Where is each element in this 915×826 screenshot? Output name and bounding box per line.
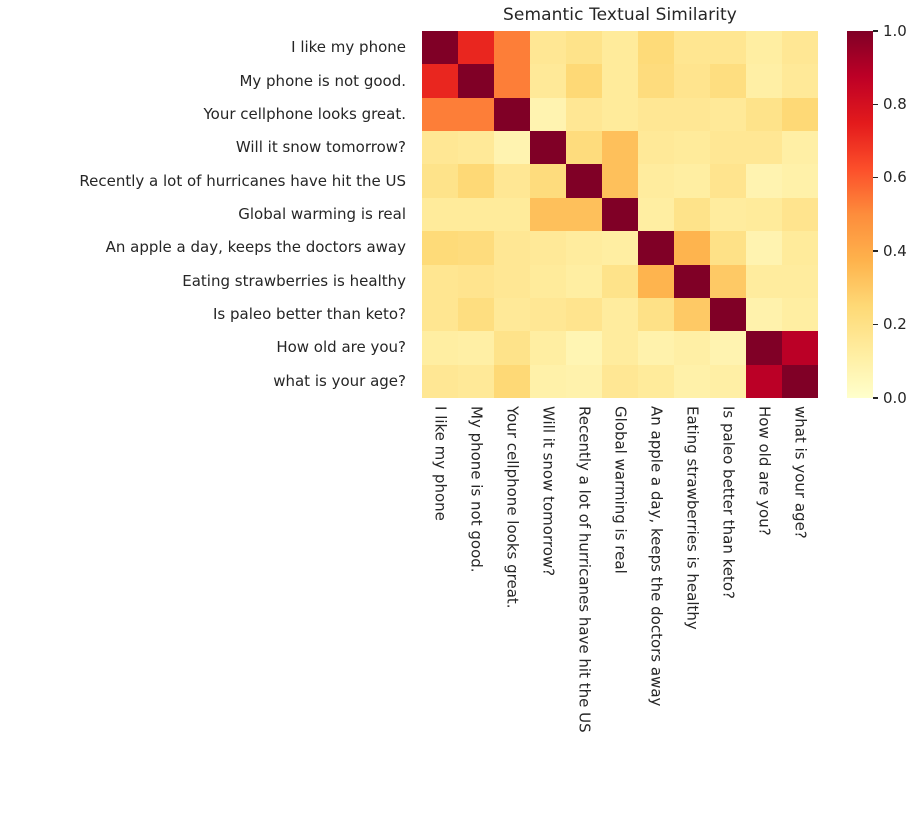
colorbar: 0.00.20.40.60.81.0 <box>847 31 873 398</box>
heatmap-cell <box>782 265 818 298</box>
heatmap-cell <box>746 164 782 197</box>
colorbar-tick: 0.8 <box>873 97 907 111</box>
heatmap-cell <box>782 231 818 264</box>
heatmap-cell <box>638 231 674 264</box>
heatmap-cell <box>746 365 782 398</box>
heatmap-cell <box>674 365 710 398</box>
colorbar-tick: 0.2 <box>873 318 907 332</box>
heatmap-cell <box>494 265 530 298</box>
heatmap-cell <box>602 298 638 331</box>
heatmap-cell <box>782 98 818 131</box>
colorbar-tick: 0.6 <box>873 171 907 185</box>
heatmap-cell <box>566 365 602 398</box>
heatmap-cell <box>782 31 818 64</box>
heatmap-cell <box>782 298 818 331</box>
heatmap-cell <box>494 31 530 64</box>
heatmap-cell <box>782 198 818 231</box>
heatmap-cell <box>422 365 458 398</box>
heatmap-cell <box>710 365 746 398</box>
heatmap-cell <box>422 131 458 164</box>
heatmap-cell <box>530 198 566 231</box>
x-axis-tick-label: Is paleo better than keto? <box>710 398 746 558</box>
heatmap-cell <box>566 31 602 64</box>
heatmap-cell <box>458 265 494 298</box>
heatmap-cell <box>638 164 674 197</box>
heatmap-cell <box>530 298 566 331</box>
y-axis-tick-label: How old are you? <box>0 331 414 364</box>
heatmap-cell <box>746 131 782 164</box>
heatmap-cell <box>782 131 818 164</box>
colorbar-tick: 0.0 <box>873 391 907 405</box>
heatmap-cell <box>530 265 566 298</box>
heatmap-cell <box>782 164 818 197</box>
heatmap-cell <box>530 64 566 97</box>
heatmap-cell <box>494 298 530 331</box>
heatmap-cell <box>710 298 746 331</box>
y-axis-tick-label: Recently a lot of hurricanes have hit th… <box>0 164 414 197</box>
heatmap-cell <box>566 164 602 197</box>
heatmap-cell <box>782 331 818 364</box>
heatmap-cell <box>458 365 494 398</box>
heatmap-cell <box>494 131 530 164</box>
tick-mark-icon <box>873 30 878 31</box>
heatmap-cell <box>710 231 746 264</box>
heatmap-cell <box>746 64 782 97</box>
heatmap-cell <box>458 64 494 97</box>
colorbar-tick-label: 0.4 <box>883 244 907 259</box>
heatmap-cell <box>746 31 782 64</box>
heatmap-cell <box>746 298 782 331</box>
colorbar-tick-label: 0.2 <box>883 317 907 332</box>
heatmap-figure: Semantic Textual Similarity I like my ph… <box>0 0 915 826</box>
tick-mark-icon <box>873 250 878 251</box>
heatmap-cell <box>494 331 530 364</box>
y-axis-tick-label: Eating strawberries is healthy <box>0 265 414 298</box>
heatmap-cell <box>710 198 746 231</box>
x-axis-tick-label: Will it snow tomorrow? <box>530 398 566 558</box>
heatmap-cell <box>530 31 566 64</box>
heatmap-cell <box>458 198 494 231</box>
x-axis-tick-label: Eating strawberries is healthy <box>674 398 710 558</box>
heatmap-cell <box>458 298 494 331</box>
heatmap-cell <box>422 331 458 364</box>
heatmap-cell <box>422 265 458 298</box>
heatmap-cell <box>674 64 710 97</box>
heatmap-cell <box>566 98 602 131</box>
y-axis-tick-label: My phone is not good. <box>0 64 414 97</box>
y-axis-tick-label: An apple a day, keeps the doctors away <box>0 231 414 264</box>
x-axis-tick-label: Global warming is real <box>602 398 638 558</box>
colorbar-gradient <box>847 31 873 398</box>
heatmap-grid <box>422 31 818 398</box>
y-axis-tick-label: Will it snow tomorrow? <box>0 131 414 164</box>
heatmap-cell <box>494 64 530 97</box>
heatmap-cell <box>746 231 782 264</box>
colorbar-tick-label: 0.6 <box>883 170 907 185</box>
heatmap-cell <box>674 198 710 231</box>
heatmap-cell <box>602 64 638 97</box>
tick-mark-icon <box>873 177 878 178</box>
heatmap-cell <box>638 131 674 164</box>
colorbar-tick: 1.0 <box>873 24 907 38</box>
heatmap-cell <box>638 31 674 64</box>
heatmap-cell <box>422 31 458 64</box>
heatmap-cell <box>422 64 458 97</box>
heatmap-cell <box>602 98 638 131</box>
heatmap-cell <box>602 131 638 164</box>
heatmap-cell <box>422 231 458 264</box>
heatmap-cell <box>566 298 602 331</box>
heatmap-cell <box>530 231 566 264</box>
heatmap-cell <box>530 164 566 197</box>
heatmap-cell <box>422 164 458 197</box>
x-axis-tick-label: How old are you? <box>746 398 782 558</box>
heatmap-cell <box>638 198 674 231</box>
colorbar-tick: 0.4 <box>873 244 907 258</box>
y-axis-tick-label: I like my phone <box>0 31 414 64</box>
heatmap-cell <box>782 64 818 97</box>
colorbar-tick-label: 0.0 <box>883 391 907 406</box>
x-axis-tick-label: My phone is not good. <box>458 398 494 558</box>
heatmap-cell <box>566 265 602 298</box>
heatmap-cell <box>674 265 710 298</box>
x-axis-tick-label: Recently a lot of hurricanes have hit th… <box>566 398 602 558</box>
heatmap-cell <box>458 231 494 264</box>
heatmap-cell <box>494 365 530 398</box>
heatmap-cell <box>422 98 458 131</box>
heatmap-cell <box>746 331 782 364</box>
heatmap-cell <box>566 64 602 97</box>
heatmap-cell <box>638 265 674 298</box>
heatmap-cell <box>494 98 530 131</box>
heatmap-cell <box>674 298 710 331</box>
heatmap-cell <box>530 131 566 164</box>
heatmap-cell <box>602 265 638 298</box>
heatmap-cell <box>494 198 530 231</box>
heatmap-cell <box>602 365 638 398</box>
heatmap-cell <box>638 98 674 131</box>
colorbar-tick-label: 1.0 <box>883 24 907 39</box>
tick-mark-icon <box>873 397 878 398</box>
heatmap-cell <box>674 98 710 131</box>
y-axis-tick-labels: I like my phoneMy phone is not good.Your… <box>0 31 414 398</box>
heatmap-cell <box>638 365 674 398</box>
heatmap-cell <box>602 198 638 231</box>
x-axis-tick-label: An apple a day, keeps the doctors away <box>638 398 674 558</box>
heatmap-cell <box>602 231 638 264</box>
heatmap-cell <box>638 64 674 97</box>
heatmap-cell <box>530 365 566 398</box>
heatmap-cell <box>602 31 638 64</box>
heatmap-cell <box>602 331 638 364</box>
y-axis-tick-label: Global warming is real <box>0 198 414 231</box>
heatmap-cell <box>710 331 746 364</box>
tick-mark-icon <box>873 324 878 325</box>
heatmap-cell <box>710 31 746 64</box>
heatmap-cell <box>602 164 638 197</box>
heatmap-cell <box>746 98 782 131</box>
chart-title: Semantic Textual Similarity <box>422 5 818 25</box>
heatmap-cell <box>566 331 602 364</box>
heatmap-cell <box>710 164 746 197</box>
heatmap-cell <box>710 265 746 298</box>
heatmap-cell <box>458 131 494 164</box>
heatmap-cell <box>710 131 746 164</box>
heatmap-cell <box>494 164 530 197</box>
heatmap-cell <box>566 131 602 164</box>
heatmap-cell <box>530 331 566 364</box>
heatmap-cell <box>458 331 494 364</box>
heatmap-cell <box>674 331 710 364</box>
heatmap-cell <box>746 265 782 298</box>
y-axis-tick-label: Is paleo better than keto? <box>0 298 414 331</box>
x-axis-tick-labels: I like my phoneMy phone is not good.Your… <box>422 398 818 558</box>
heatmap-cell <box>782 365 818 398</box>
heatmap-cell <box>422 198 458 231</box>
heatmap-cell <box>710 64 746 97</box>
heatmap-cell <box>458 164 494 197</box>
y-axis-tick-label: what is your age? <box>0 365 414 398</box>
x-axis-tick-label: I like my phone <box>422 398 458 558</box>
x-axis-tick-label: Your cellphone looks great. <box>494 398 530 558</box>
heatmap-cell <box>674 164 710 197</box>
heatmap-cell <box>458 98 494 131</box>
y-axis-tick-label: Your cellphone looks great. <box>0 98 414 131</box>
heatmap-cell <box>674 31 710 64</box>
x-axis-tick-label: what is your age? <box>782 398 818 558</box>
heatmap-cell <box>458 31 494 64</box>
heatmap-cell <box>674 231 710 264</box>
heatmap-cell <box>638 298 674 331</box>
heatmap-cell <box>638 331 674 364</box>
colorbar-tick-labels: 0.00.20.40.60.81.0 <box>873 31 915 398</box>
heatmap-cell <box>566 198 602 231</box>
heatmap-cell <box>566 231 602 264</box>
colorbar-tick-label: 0.8 <box>883 97 907 112</box>
tick-mark-icon <box>873 104 878 105</box>
heatmap-cell <box>530 98 566 131</box>
heatmap-cell <box>494 231 530 264</box>
heatmap-cell <box>710 98 746 131</box>
heatmap-cell <box>422 298 458 331</box>
heatmap-cell <box>674 131 710 164</box>
heatmap-cell <box>746 198 782 231</box>
